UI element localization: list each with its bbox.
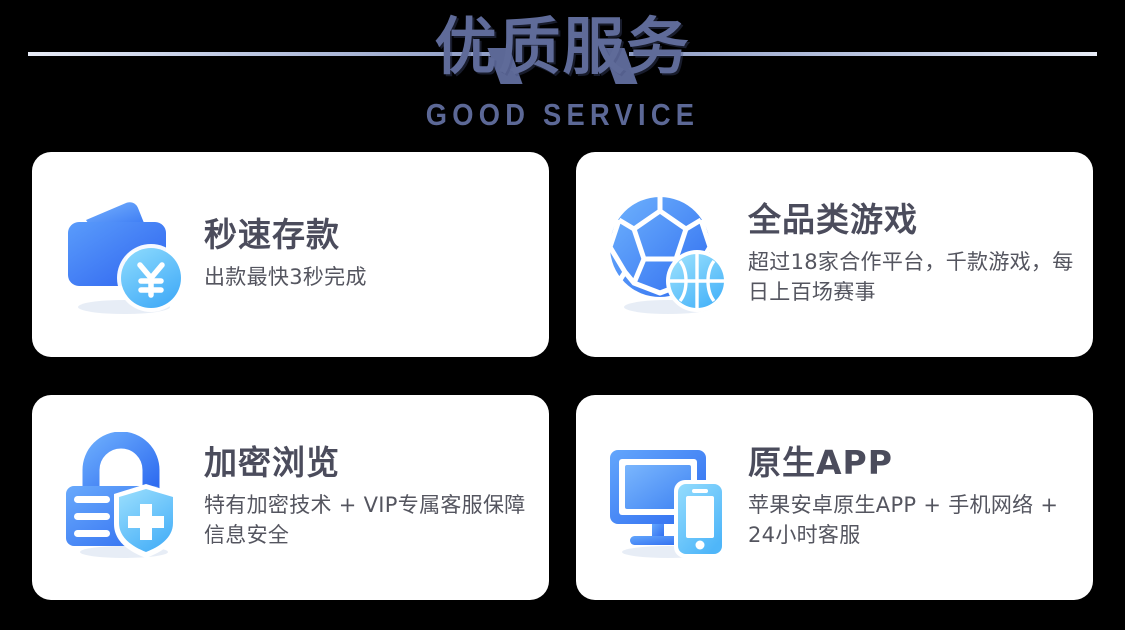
feature-card-text: 全品类游戏 超过18家合作平台，千款游戏，每日上百场赛事 — [748, 201, 1083, 308]
feature-card-title: 秒速存款 — [204, 216, 367, 254]
page-title: 优质服务 — [0, 8, 1125, 86]
lock-shield-icon — [58, 432, 190, 564]
feature-card-title: 加密浏览 — [204, 444, 533, 482]
feature-card-encryption[interactable]: 加密浏览 特有加密技术 + VIP专属客服保障信息安全 — [32, 395, 549, 600]
page-subtitle: GOOD SERVICE — [68, 97, 1058, 133]
feature-card-subtitle: 特有加密技术 + VIP专属客服保障信息安全 — [204, 491, 533, 551]
feature-card-subtitle: 苹果安卓原生APP + 手机网络 + 24小时客服 — [748, 491, 1077, 551]
feature-card-games[interactable]: 全品类游戏 超过18家合作平台，千款游戏，每日上百场赛事 — [576, 152, 1093, 357]
feature-card-title: 原生APP — [748, 444, 1077, 482]
feature-card-deposit[interactable]: 秒速存款 出款最快3秒完成 — [32, 152, 549, 357]
banner-header: 优质服务 GOOD SERVICE — [0, 0, 1125, 146]
feature-card-text: 加密浏览 特有加密技术 + VIP专属客服保障信息安全 — [204, 444, 539, 551]
feature-card-native-app[interactable]: 原生APP 苹果安卓原生APP + 手机网络 + 24小时客服 — [576, 395, 1093, 600]
feature-card-subtitle: 超过18家合作平台，千款游戏，每日上百场赛事 — [748, 248, 1077, 308]
feature-card-subtitle: 出款最快3秒完成 — [204, 263, 367, 293]
feature-card-grid: 秒速存款 出款最快3秒完成 — [32, 152, 1093, 600]
feature-card-title: 全品类游戏 — [748, 201, 1077, 239]
soccer-basketball-icon — [602, 189, 734, 321]
feature-card-text: 原生APP 苹果安卓原生APP + 手机网络 + 24小时客服 — [748, 444, 1083, 551]
feature-card-text: 秒速存款 出款最快3秒完成 — [204, 216, 373, 293]
monitor-phone-icon — [602, 432, 734, 564]
good-service-banner: 优质服务 GOOD SERVICE — [0, 0, 1125, 630]
wallet-yen-icon — [58, 189, 190, 321]
